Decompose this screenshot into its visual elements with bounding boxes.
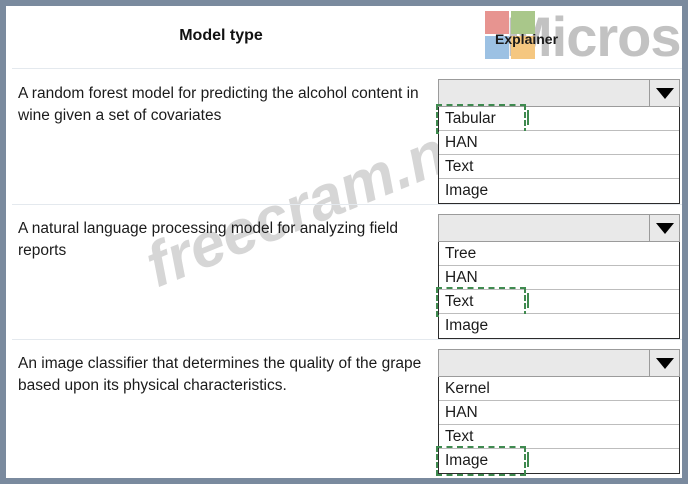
dropdown-option[interactable]: Text bbox=[439, 290, 679, 314]
table-row: An image classifier that determines the … bbox=[6, 339, 682, 474]
dropdown-option[interactable]: HAN bbox=[439, 401, 679, 425]
dropdown-button-2[interactable] bbox=[438, 214, 680, 242]
dropdown-options-2[interactable]: Tree HAN Text Image bbox=[438, 242, 680, 339]
question-panel: Microsoft freecram.net Model type Explai… bbox=[0, 0, 688, 484]
explainer-dropdown-3[interactable]: Kernel HAN Text Image bbox=[438, 349, 680, 474]
column-header-explainer: Explainer bbox=[495, 31, 558, 47]
row-prompt-text: A random forest model for predicting the… bbox=[18, 83, 428, 127]
dropdown-option[interactable]: Text bbox=[439, 425, 679, 449]
dropdown-button-3[interactable] bbox=[438, 349, 680, 377]
chevron-down-icon[interactable] bbox=[649, 215, 679, 241]
dropdown-option[interactable]: Tree bbox=[439, 242, 679, 266]
row-prompt-text: A natural language processing model for … bbox=[18, 218, 428, 262]
dropdown-options-3[interactable]: Kernel HAN Text Image bbox=[438, 377, 680, 474]
column-header-model-type: Model type bbox=[6, 27, 436, 45]
dropdown-option[interactable]: Image bbox=[439, 179, 679, 203]
dropdown-button-1[interactable] bbox=[438, 79, 680, 107]
explainer-dropdown-2[interactable]: Tree HAN Text Image bbox=[438, 214, 680, 339]
chevron-down-icon[interactable] bbox=[649, 80, 679, 106]
row-prompt-text: An image classifier that determines the … bbox=[18, 353, 428, 397]
dropdown-option[interactable]: Image bbox=[439, 314, 679, 338]
chevron-down-icon[interactable] bbox=[649, 350, 679, 376]
table-row: A random forest model for predicting the… bbox=[6, 69, 682, 204]
dropdown-option[interactable]: Tabular bbox=[439, 107, 679, 131]
table-row: A natural language processing model for … bbox=[6, 204, 682, 339]
table-header: Model type Explainer bbox=[6, 6, 682, 68]
dropdown-option[interactable]: Image bbox=[439, 449, 679, 473]
dropdown-option[interactable]: HAN bbox=[439, 266, 679, 290]
dropdown-options-1[interactable]: Tabular HAN Text Image bbox=[438, 107, 680, 204]
dropdown-option[interactable]: Text bbox=[439, 155, 679, 179]
dropdown-option[interactable]: Kernel bbox=[439, 377, 679, 401]
dropdown-option[interactable]: HAN bbox=[439, 131, 679, 155]
explainer-dropdown-1[interactable]: Tabular HAN Text Image bbox=[438, 79, 680, 204]
